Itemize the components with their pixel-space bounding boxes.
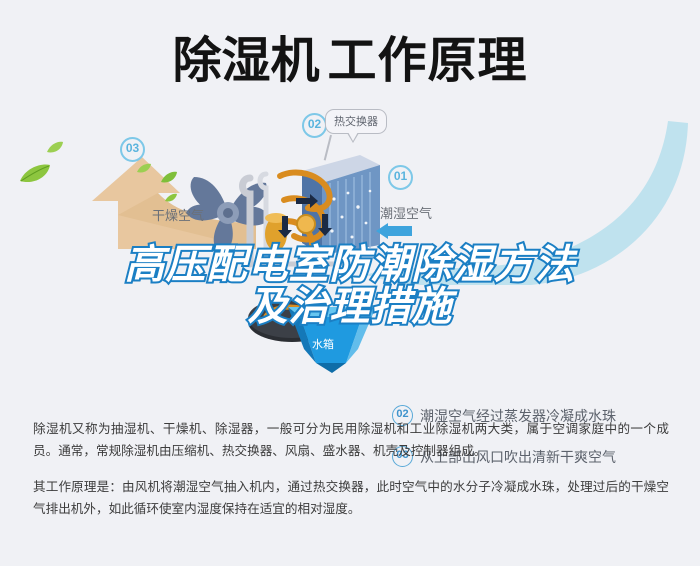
page-root: 除湿机工作原理 [0, 0, 700, 566]
leaf-icon [18, 163, 52, 185]
humid-air-label: 潮湿空气 [380, 203, 432, 222]
humid-air-sweep-arrow [360, 115, 690, 285]
leaf-icon [164, 193, 178, 204]
body-paragraph-2: 其工作原理是：由风机将潮湿空气抽入机内，通过热交换器，此时空气中的水分子冷凝成水… [33, 476, 669, 520]
article-body: 除湿机又称为抽湿机、干燥机、除湿器，一般可分为民用除湿机和工业除湿机两大类，属于… [33, 418, 669, 520]
body-paragraph-1: 除湿机又称为抽湿机、干燥机、除湿器，一般可分为民用除湿机和工业除湿机两大类，属于… [33, 418, 669, 462]
leaf-icon [46, 141, 64, 155]
badge-03: 03 [120, 137, 145, 162]
heat-exchanger-callout: 热交换器 [325, 109, 387, 134]
page-title-part2: 工作原理 [328, 32, 528, 89]
compressor-coil-assembly [236, 160, 346, 278]
header: 除湿机工作原理 [0, 0, 700, 120]
dry-air-label: 干燥空气 [152, 205, 204, 224]
air-inlet-arrow-icon [376, 223, 412, 239]
leaf-icon [136, 163, 152, 175]
leaf-icon [160, 171, 178, 185]
page-title-part1: 除湿机 [172, 32, 319, 89]
badge-02: 02 [302, 113, 327, 138]
dehumidifier-diagram: 水箱 03 02 01 热交换器 干燥空气 潮湿空气 02 潮湿空气经过蒸发器冷… [0, 105, 700, 395]
badge-01: 01 [388, 165, 413, 190]
water-tank-label: 水箱 [312, 336, 334, 352]
page-title: 除湿机工作原理 [172, 36, 527, 85]
